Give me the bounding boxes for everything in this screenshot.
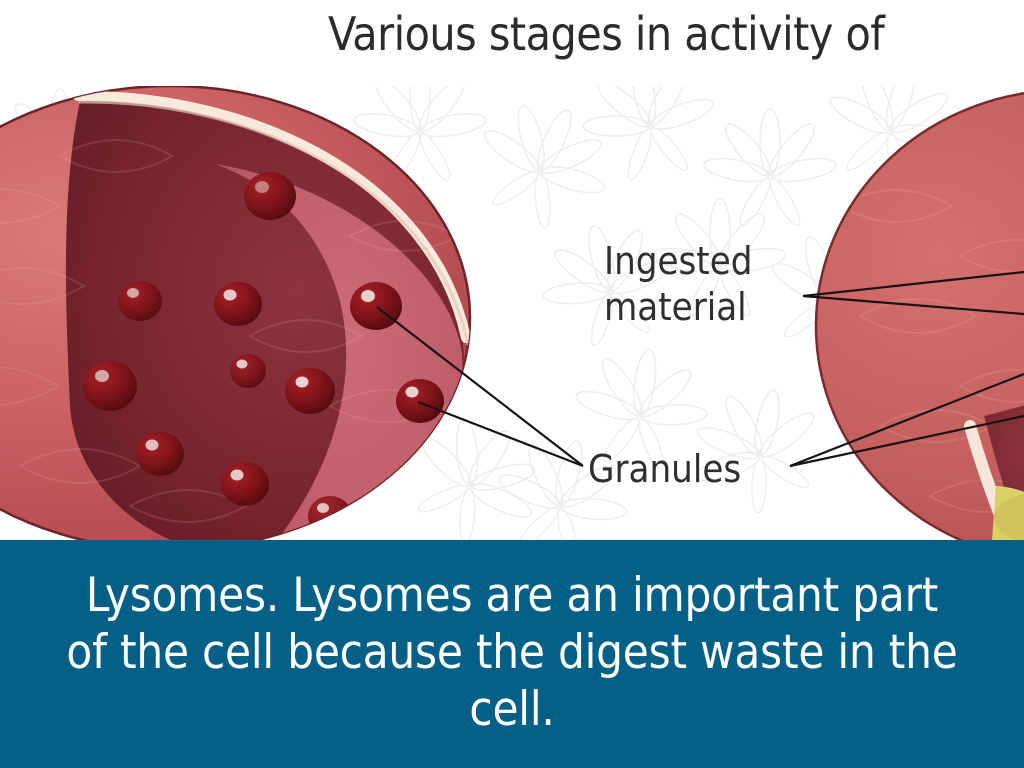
right-cell-outer-wall xyxy=(816,90,1024,540)
diagram-figure: Ingested material Granules xyxy=(0,86,1024,540)
right-phagocyte-cell xyxy=(816,90,1024,540)
granule xyxy=(285,368,335,414)
phagocyte-illustration xyxy=(0,86,1024,540)
left-phagocyte-cell xyxy=(0,86,470,540)
granule xyxy=(396,379,444,423)
granule xyxy=(83,361,137,411)
slide: Various stages in activity of xyxy=(0,0,1024,768)
granule xyxy=(244,172,296,220)
granule xyxy=(230,354,266,388)
granule xyxy=(214,282,262,326)
page-title: Various stages in activity of xyxy=(0,4,1024,70)
leader-granules-left xyxy=(418,402,583,466)
granule xyxy=(118,281,162,321)
caption-text: Lysomes. Lysomes are an important part o… xyxy=(62,567,962,742)
caption-band: Lysomes. Lysomes are an important part o… xyxy=(0,540,1024,768)
granule xyxy=(350,282,402,330)
granule xyxy=(136,432,184,476)
label-granules: Granules xyxy=(588,446,741,492)
granule xyxy=(221,462,269,506)
granule xyxy=(308,496,352,536)
label-ingested-material: Ingested material xyxy=(604,238,752,330)
